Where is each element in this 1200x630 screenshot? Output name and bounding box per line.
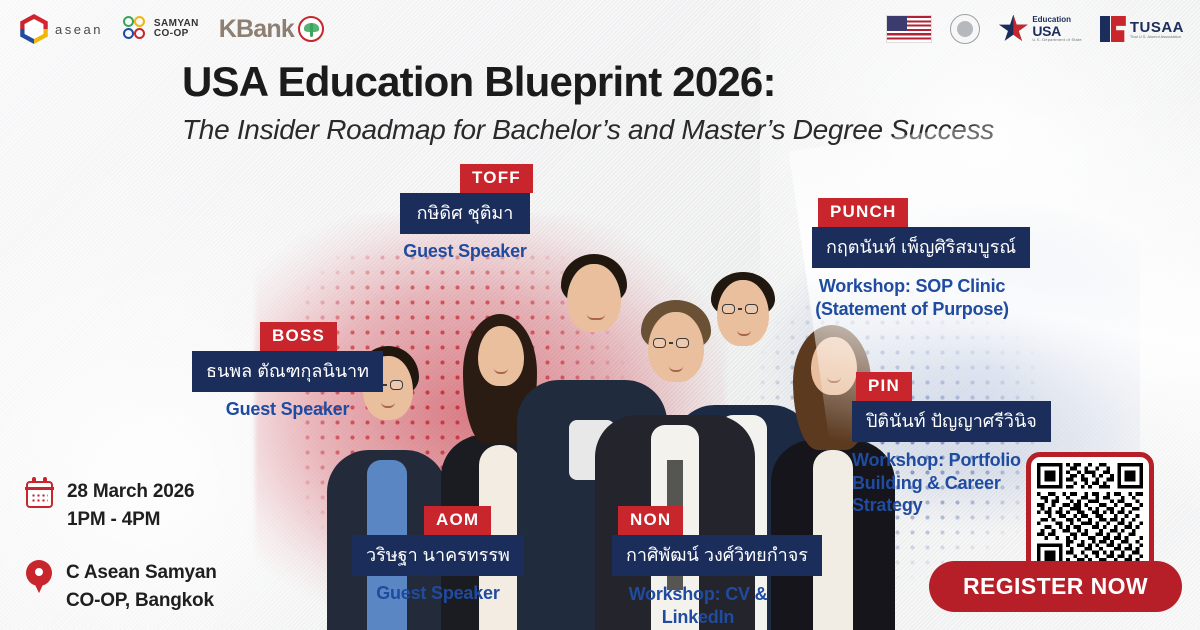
education-usa-line3: U.S. Department of State: [1032, 38, 1082, 42]
speaker-badge-toff: TOFF: [460, 164, 533, 193]
speaker-badge-boss: BOSS: [260, 322, 337, 351]
page-title: USA Education Blueprint 2026:: [182, 58, 776, 106]
kbank-label: KBank: [219, 15, 294, 44]
event-date: 28 March 2026: [67, 478, 194, 506]
qr-code[interactable]: [1037, 463, 1143, 569]
speaker-name-aom: วริษฐา นาครทรรพ: [352, 535, 524, 576]
tusaa-line1: TUSAA: [1130, 20, 1184, 35]
us-flag-icon: [886, 15, 932, 43]
speaker-label-non: NON กาศิพัฒน์ วงศ์วิทยกำจร Workshop: CV …: [612, 506, 822, 628]
speaker-label-aom: AOM วริษฐา นาครทรรพ Guest Speaker: [352, 506, 524, 604]
speaker-badge-aom: AOM: [424, 506, 491, 535]
register-now-button[interactable]: REGISTER NOW: [929, 561, 1182, 612]
speaker-name-toff: กษิดิศ ชุติมา: [400, 193, 530, 234]
speaker-name-pin: ปิตินันท์ ปัญญาศรีวินิจ: [852, 401, 1051, 442]
speaker-label-punch: PUNCH กฤตนันท์ เพ็ญศิริสมบูรณ์ Workshop:…: [812, 198, 1030, 320]
event-info: 28 March 2026 1PM - 4PM C Asean Samyan C…: [26, 478, 217, 630]
location-pin-icon: [26, 560, 52, 594]
speaker-role-non: Workshop: CV & LinkedIn: [612, 583, 784, 628]
calendar-icon: [26, 481, 53, 508]
event-date-row: 28 March 2026 1PM - 4PM: [26, 478, 217, 533]
tusaa-logo: TUSAA Thai U.S. Alumni Association: [1100, 16, 1184, 42]
samyan-coop-label: SAMYAN CO-OP: [154, 19, 199, 40]
speaker-label-toff: TOFF กษิดิศ ชุติมา Guest Speaker: [400, 164, 530, 262]
us-department-of-state-seal-icon: [950, 14, 980, 44]
coop-circles-icon: [123, 16, 149, 42]
speaker-role-boss: Guest Speaker: [192, 399, 383, 420]
partner-logos-left: asean SAMYAN CO-OP KBank: [18, 14, 324, 44]
speaker-badge-punch: PUNCH: [818, 198, 908, 227]
kbank-seed-icon: [298, 16, 324, 42]
samyan-coop-line2: CO-OP: [154, 28, 189, 39]
speaker-role-aom: Guest Speaker: [352, 583, 524, 604]
speaker-badge-pin: PIN: [856, 372, 912, 401]
event-venue-line1: C Asean Samyan: [66, 559, 217, 587]
speaker-role-punch: Workshop: SOP Clinic (Statement of Purpo…: [812, 275, 1012, 320]
education-usa-logo: Education USA U.S. Department of State: [998, 15, 1082, 44]
speaker-label-boss: BOSS ธนพล ตัณฑกุลนินาท Guest Speaker: [192, 322, 383, 420]
event-venue-line2: CO-OP, Bangkok: [66, 587, 217, 615]
speaker-badge-non: NON: [618, 506, 683, 535]
speaker-label-pin: PIN ปิตินันท์ ปัญญาศรีวินิจ Workshop: Po…: [852, 372, 1051, 517]
tusaa-line2: Thai U.S. Alumni Association: [1130, 35, 1184, 39]
education-usa-line2: USA: [1032, 24, 1082, 38]
event-time: 1PM - 4PM: [67, 506, 194, 534]
event-poster: asean SAMYAN CO-OP KBank Education USA U…: [0, 0, 1200, 630]
event-venue-row: C Asean Samyan CO-OP, Bangkok: [26, 559, 217, 614]
samyan-coop-line1: SAMYAN: [154, 18, 199, 29]
speaker-name-boss: ธนพล ตัณฑกุลนินาท: [192, 351, 383, 392]
kbank-logo: KBank: [219, 15, 324, 44]
speaker-name-punch: กฤตนันท์ เพ็ญศิริสมบูรณ์: [812, 227, 1030, 268]
asean-logo: asean: [18, 14, 103, 44]
samyan-coop-logo: SAMYAN CO-OP: [123, 16, 199, 42]
speaker-role-toff: Guest Speaker: [400, 241, 530, 262]
asean-icon: [18, 14, 50, 44]
star-icon: [998, 15, 1028, 44]
tusaa-icon: [1100, 16, 1126, 42]
speaker-name-non: กาศิพัฒน์ วงศ์วิทยกำจร: [612, 535, 822, 576]
asean-logo-label: asean: [55, 22, 103, 37]
page-subtitle: The Insider Roadmap for Bachelor’s and M…: [182, 114, 994, 146]
speaker-role-pin: Workshop: Portfolio Building & Career St…: [852, 449, 1028, 517]
partner-logos-right: Education USA U.S. Department of State T…: [886, 14, 1184, 44]
